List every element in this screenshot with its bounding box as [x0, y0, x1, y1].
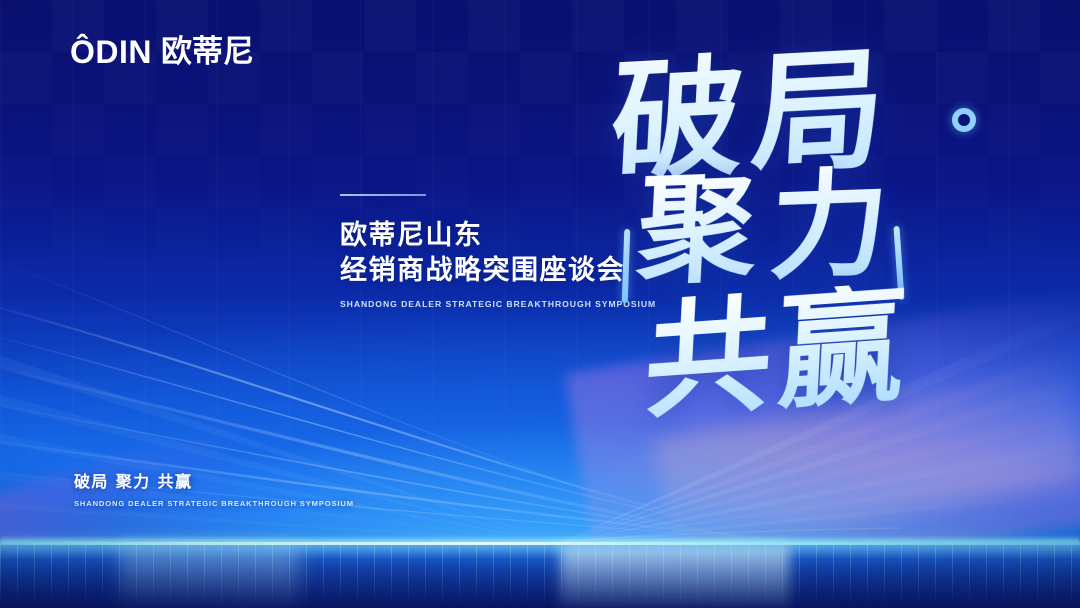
brand-logo-cn: 欧蒂尼 — [161, 37, 254, 68]
calligraphy-slogan: 破局 聚力 共赢 — [560, 40, 1060, 480]
event-keyvisual-poster: ÔDIN 欧蒂尼 欧蒂尼山东 经销商战略突围座谈会 SHANDONG DEALE… — [0, 0, 1080, 608]
vertical-bar-accent-left-icon — [622, 229, 631, 303]
title-rule-divider — [340, 194, 426, 196]
floor-hotspot-left — [120, 545, 300, 608]
horizon-light-line — [0, 542, 1080, 545]
floor-hotspot-center — [560, 545, 790, 608]
degree-circle-accent-icon — [952, 108, 976, 132]
brand-logo[interactable]: ÔDIN 欧蒂尼 — [70, 36, 254, 68]
strapline-slogan-cn: 破局 聚力 共赢 — [74, 468, 354, 492]
calligraphy-row-gongying: 共赢 — [642, 281, 914, 425]
strapline-slogan-en: SHANDONG DEALER STRATEGIC BREAKTHROUGH S… — [74, 499, 354, 508]
bottom-strapline: 破局 聚力 共赢 SHANDONG DEALER STRATEGIC BREAK… — [74, 468, 354, 508]
odin-wordmark-icon: ÔDIN — [70, 36, 152, 68]
calligraphy-row-juli: 聚力 — [635, 163, 906, 290]
